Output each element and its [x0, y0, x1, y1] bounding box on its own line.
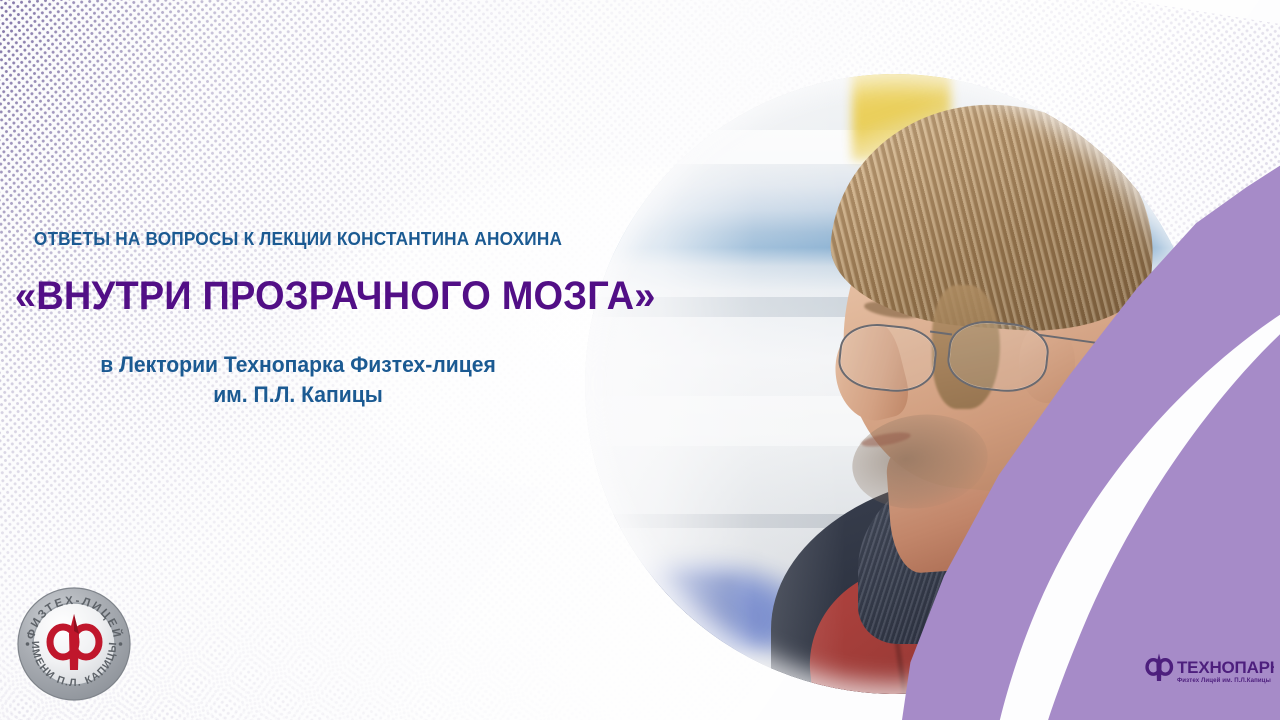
- portrait-photo: [585, 74, 1205, 694]
- page-title: «ВНУТРИ ПРОЗРАЧНОГО МОЗГА»: [15, 274, 581, 318]
- venue-line-1: в Лектории Технопарка Физтех-лицея: [12, 350, 584, 380]
- glasses-lens-right: [944, 317, 1051, 396]
- glasses-bridge: [930, 330, 952, 335]
- glasses-lens-left: [836, 320, 939, 396]
- portrait-subject: [585, 74, 1205, 694]
- subject-glasses: [585, 74, 1205, 694]
- technopark-emblem-f: [1147, 653, 1171, 681]
- technopark-wordmark: ТЕХНОПАРК: [1177, 658, 1274, 677]
- slide-canvas: ОТВЕТЫ НА ВОПРОСЫ К ЛЕКЦИИ КОНСТАНТИНА А…: [0, 0, 1280, 720]
- glasses-temple: [1038, 333, 1100, 344]
- technopark-logo: ТЕХНОПАРК Физтех Лицей им. П.Л.Капицы: [1144, 648, 1274, 690]
- venue-text: в Лектории Технопарка Физтех-лицея им. П…: [12, 350, 584, 409]
- portrait-scene: [585, 74, 1205, 694]
- technopark-tagline: Физтех Лицей им. П.Л.Капицы: [1177, 677, 1271, 684]
- venue-line-2: им. П.Л. Капицы: [12, 380, 584, 410]
- title-text-block: ОТВЕТЫ НА ВОПРОСЫ К ЛЕКЦИИ КОНСТАНТИНА А…: [0, 228, 596, 410]
- lyceum-seal: ФИЗТЕХ-ЛИЦЕЙ ИМЕНИ П.Л. КАПИЦЫ: [8, 578, 140, 710]
- eyebrow-text: ОТВЕТЫ НА ВОПРОСЫ К ЛЕКЦИИ КОНСТАНТИНА А…: [21, 228, 575, 250]
